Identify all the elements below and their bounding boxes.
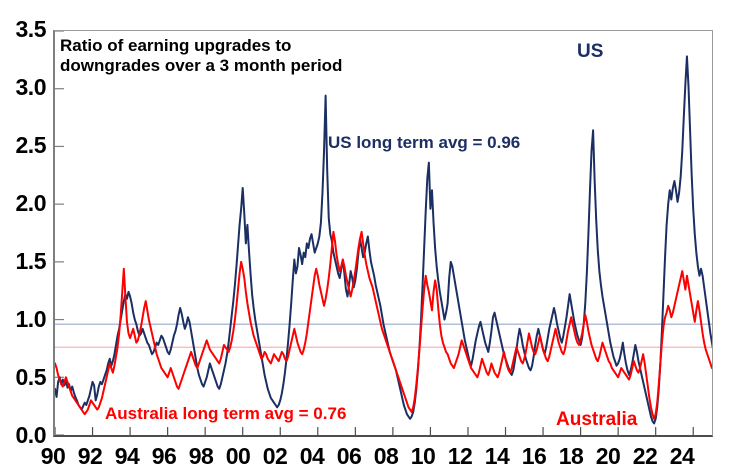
us-series-label: US (577, 41, 603, 63)
y-axis-label-0-5: 0.5 (0, 364, 46, 391)
plot-area (53, 30, 713, 437)
y-axis-label-1-0: 1.0 (0, 306, 46, 333)
x-axis-label-94: 94 (107, 443, 147, 470)
chart-title-note: Ratio of earning upgrades to downgrades … (60, 36, 342, 75)
x-axis-label-08: 08 (366, 443, 406, 470)
y-axis-label-3-5: 3.5 (0, 16, 46, 43)
data-series-group (55, 56, 712, 423)
x-axis-label-00: 00 (218, 443, 258, 470)
y-axis-label-1-5: 1.5 (0, 248, 46, 275)
x-axis-label-92: 92 (70, 443, 110, 470)
x-axis-label-24: 24 (662, 443, 702, 470)
x-axis-label-14: 14 (477, 443, 517, 470)
x-axis-label-18: 18 (551, 443, 591, 470)
x-axis-label-06: 06 (329, 443, 369, 470)
australia-long-term-avg-note: Australia long term avg = 0.76 (105, 404, 346, 424)
series-line-us (55, 56, 712, 423)
y-axis-label-2-5: 2.5 (0, 132, 46, 159)
x-axis-label-98: 98 (181, 443, 221, 470)
x-axis-label-20: 20 (588, 443, 628, 470)
x-axis-label-96: 96 (144, 443, 184, 470)
x-axis-label-02: 02 (255, 443, 295, 470)
x-axis-label-16: 16 (514, 443, 554, 470)
x-axis-label-10: 10 (403, 443, 443, 470)
y-axis-label-2-0: 2.0 (0, 190, 46, 217)
us-long-term-avg-note: US long term avg = 0.96 (328, 133, 520, 153)
x-axis-label-22: 22 (625, 443, 665, 470)
x-axis-label-90: 90 (33, 443, 73, 470)
chart-svg (55, 31, 712, 435)
australia-series-label: Australia (556, 409, 637, 431)
y-axis-label-3-0: 3.0 (0, 74, 46, 101)
x-axis-label-12: 12 (440, 443, 480, 470)
chart-root: 3.5 3.0 2.5 2.0 1.5 1.0 0.5 0.0 90 92 94… (0, 0, 731, 476)
x-axis-label-04: 04 (292, 443, 332, 470)
